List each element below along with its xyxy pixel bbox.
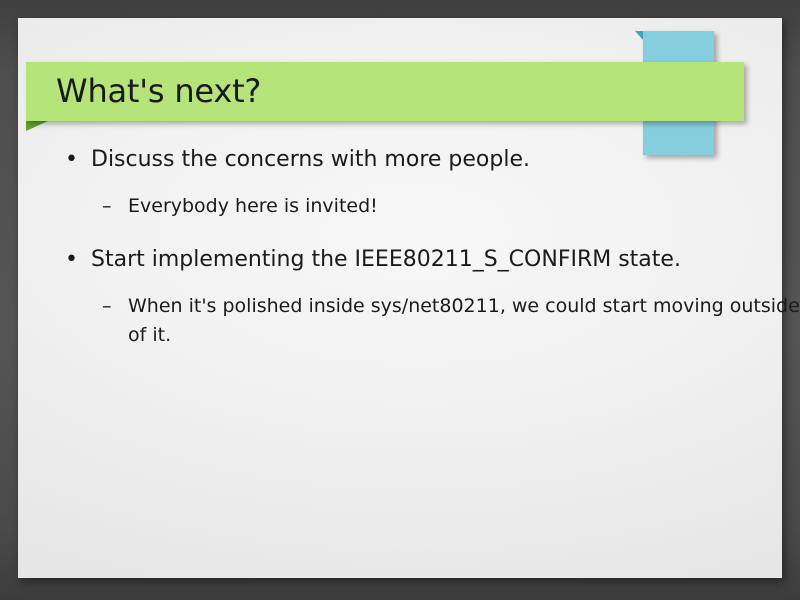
list-item: – Everybody here is invited! bbox=[36, 192, 800, 221]
slide-body-content: • Discuss the concerns with more people.… bbox=[36, 143, 800, 358]
title-banner-fold-corner bbox=[26, 121, 48, 131]
list-item-text: Everybody here is invited! bbox=[128, 195, 378, 217]
bullet-dot-icon: • bbox=[65, 243, 78, 277]
list-item-text: When it's polished inside sys/net80211, … bbox=[128, 295, 800, 346]
list-item-text: Discuss the concerns with more people. bbox=[91, 147, 530, 172]
spacer bbox=[36, 229, 800, 243]
bullet-dash-icon: – bbox=[102, 192, 112, 221]
list-item-text: Start implementing the IEEE80211_S_CONFI… bbox=[91, 247, 681, 272]
blue-stripe-fold-corner bbox=[635, 31, 643, 40]
presentation-slide: What's next? • Discuss the concerns with… bbox=[18, 18, 782, 578]
spacer bbox=[36, 283, 800, 292]
spacer bbox=[36, 183, 800, 192]
list-item: – When it's polished inside sys/net80211… bbox=[36, 292, 800, 350]
bullet-dot-icon: • bbox=[65, 143, 78, 177]
list-item: • Start implementing the IEEE80211_S_CON… bbox=[36, 243, 800, 277]
slide-title: What's next? bbox=[56, 68, 261, 114]
bullet-dash-icon: – bbox=[102, 292, 112, 321]
